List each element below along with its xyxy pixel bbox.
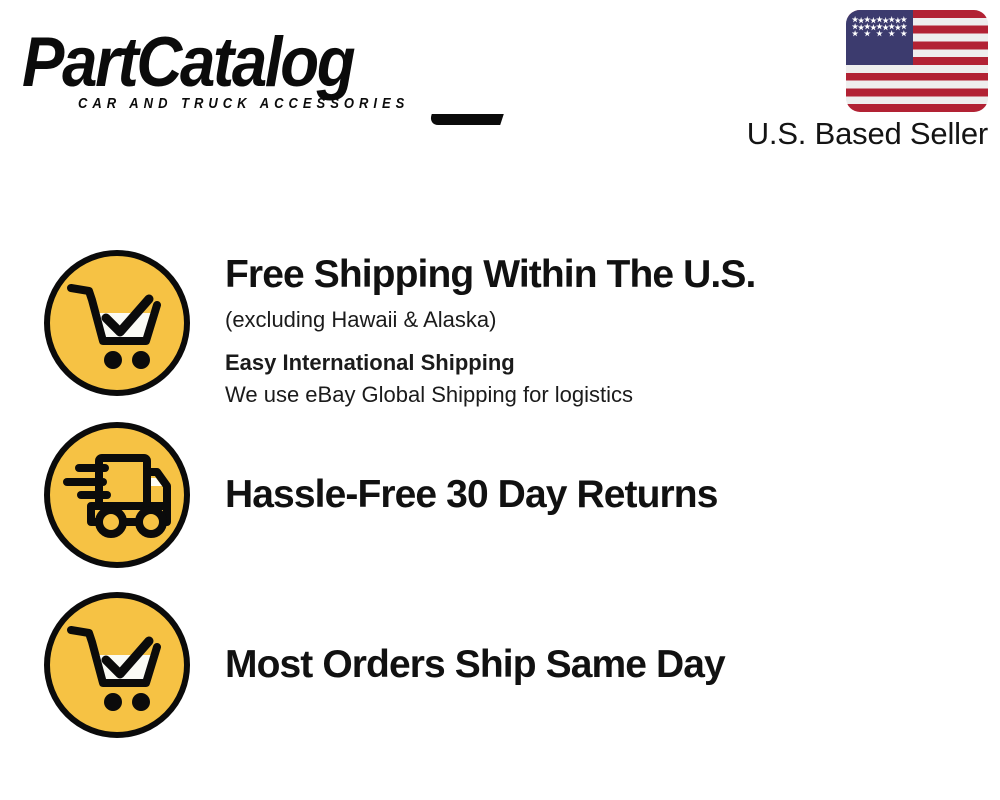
feature-returns-heading: Hassle-Free 30 Day Returns	[225, 472, 718, 518]
delivery-truck-icon	[44, 422, 190, 568]
us-flag-icon	[846, 10, 988, 112]
shopping-cart-check-icon	[44, 250, 190, 396]
feature-returns: Hassle-Free 30 Day Returns	[44, 422, 718, 568]
feature-free-shipping-heading: Free Shipping Within The U.S.	[225, 252, 755, 298]
feature-international-shipping-detail: We use eBay Global Shipping for logistic…	[225, 379, 755, 411]
feature-international-shipping-heading: Easy International Shipping	[225, 347, 755, 379]
brand-logo-wordmark: PartCatalog	[22, 26, 353, 99]
feature-free-shipping: Free Shipping Within The U.S. (excluding…	[44, 250, 755, 411]
feature-free-shipping-exclusion: (excluding Hawaii & Alaska)	[225, 304, 755, 336]
shopping-cart-check-icon	[44, 592, 190, 738]
flag-stars	[846, 10, 913, 65]
promo-banner: PartCatalog CAR AND TRUCK ACCESSORIES	[0, 0, 1000, 800]
feature-same-day-heading: Most Orders Ship Same Day	[225, 642, 725, 688]
feature-free-shipping-text: Free Shipping Within The U.S. (excluding…	[190, 250, 755, 411]
brand-logo-underline-swoosh	[428, 114, 504, 125]
feature-same-day-shipping: Most Orders Ship Same Day	[44, 592, 725, 738]
feature-returns-text: Hassle-Free 30 Day Returns	[190, 472, 718, 518]
us-based-seller-label: U.S. Based Seller	[708, 116, 988, 152]
brand-logo[interactable]: PartCatalog CAR AND TRUCK ACCESSORIES	[22, 26, 492, 118]
us-based-seller-badge: U.S. Based Seller	[708, 10, 988, 152]
brand-logo-tagline: CAR AND TRUCK ACCESSORIES	[78, 94, 409, 111]
feature-same-day-text: Most Orders Ship Same Day	[190, 642, 725, 688]
